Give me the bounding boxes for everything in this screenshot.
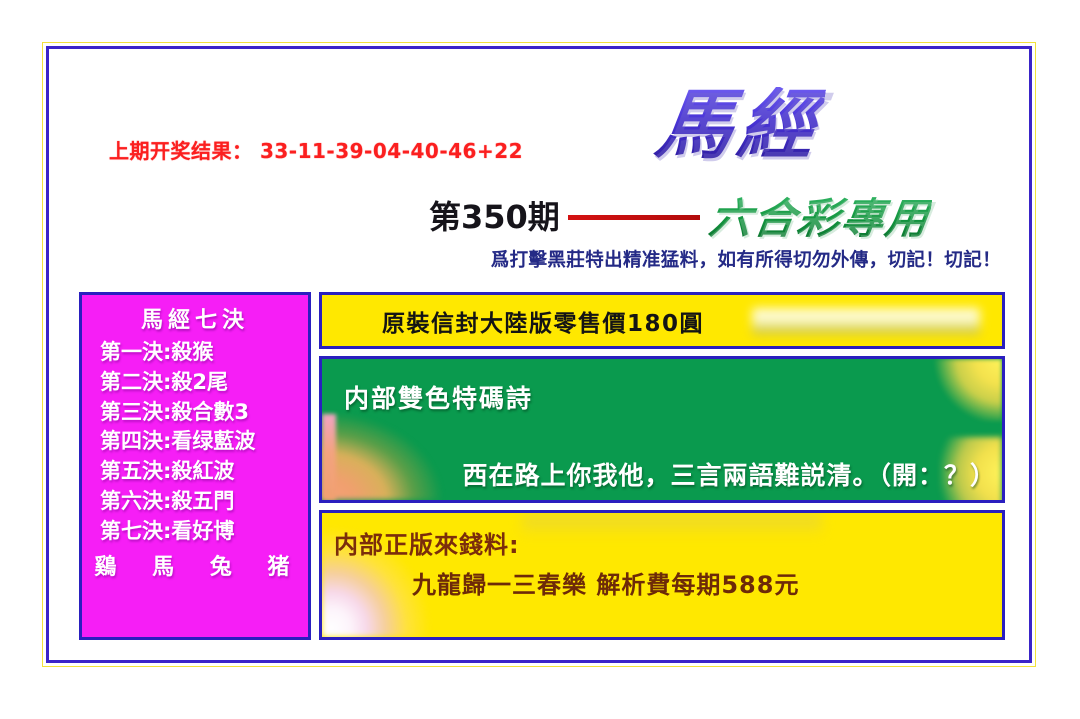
seven-verdicts-title: 馬經七決 <box>141 302 249 334</box>
verdict-row-3: 第三決:殺合數3 <box>86 398 304 428</box>
issue-number: 第350期 <box>429 192 560 238</box>
price-banner: 原裝信封大陸版零售價180圓 <box>319 292 1005 349</box>
decor-blob-yellow-top <box>932 359 1002 421</box>
issue-row: 第350期 六合彩專用 <box>429 191 1049 239</box>
seven-verdicts-panel: 馬經七決 第一決:殺猴 第二決:殺2尾 第三決:殺合數3 第四決:看绿藍波 第五… <box>79 292 311 640</box>
poster-frame: 上期开奖结果： 33-11-39-04-40-46+22 馬經 第350期 六合… <box>42 42 1036 667</box>
poem-panel: 内部雙色特碼詩 西在路上你我他，三言兩語難説清。（開：？） <box>319 356 1005 503</box>
brand-logo: 馬經 <box>652 87 827 163</box>
verdict-row-7: 第七決:看好博 <box>86 517 304 547</box>
redaction-smudge-secondary <box>522 515 822 537</box>
price-banner-text: 原裝信封大陸版零售價180圓 <box>382 304 704 338</box>
poster-inner-frame: 上期开奖结果： 33-11-39-04-40-46+22 馬經 第350期 六合… <box>46 46 1032 663</box>
verdict-row-4: 第四決:看绿藍波 <box>86 427 304 457</box>
brand-subtitle: 六合彩專用 <box>706 185 935 246</box>
poem-panel-line: 西在路上你我他，三言兩語難説清。（開：？） <box>322 456 996 492</box>
previous-draw-result: 上期开奖结果： 33-11-39-04-40-46+22 <box>109 135 523 164</box>
tagline: 爲打擊黑莊特出精准猛料，如有所得切勿外傳，切記！切記！ <box>49 246 1001 272</box>
verdict-row-2: 第二決:殺2尾 <box>86 368 304 398</box>
issue-divider-rule <box>568 215 700 220</box>
verdict-row-6: 第六決:殺五門 <box>86 487 304 517</box>
poster-header: 上期开奖结果： 33-11-39-04-40-46+22 馬經 第350期 六合… <box>49 49 1029 264</box>
money-panel: 内部正版來錢料: 九龍歸一三春樂 解析費每期588元 <box>319 510 1005 640</box>
right-column: 原裝信封大陸版零售價180圓 内部雙色特碼詩 西在路上你我他，三言兩語難説清。（… <box>319 292 1005 640</box>
verdict-row-5: 第五決:殺紅波 <box>86 457 304 487</box>
money-panel-title: 内部正版來錢料: <box>334 525 520 560</box>
zodiac-row: 鷄 馬 兔 猪 <box>87 549 304 581</box>
poem-panel-title: 内部雙色特碼詩 <box>344 379 533 415</box>
money-panel-line: 九龍歸一三春樂 解析費每期588元 <box>412 565 799 600</box>
poster-content: 馬經七決 第一決:殺猴 第二決:殺2尾 第三決:殺合數3 第四決:看绿藍波 第五… <box>79 292 1005 640</box>
verdict-row-1: 第一決:殺猴 <box>86 338 304 368</box>
redaction-smudge <box>752 308 980 338</box>
